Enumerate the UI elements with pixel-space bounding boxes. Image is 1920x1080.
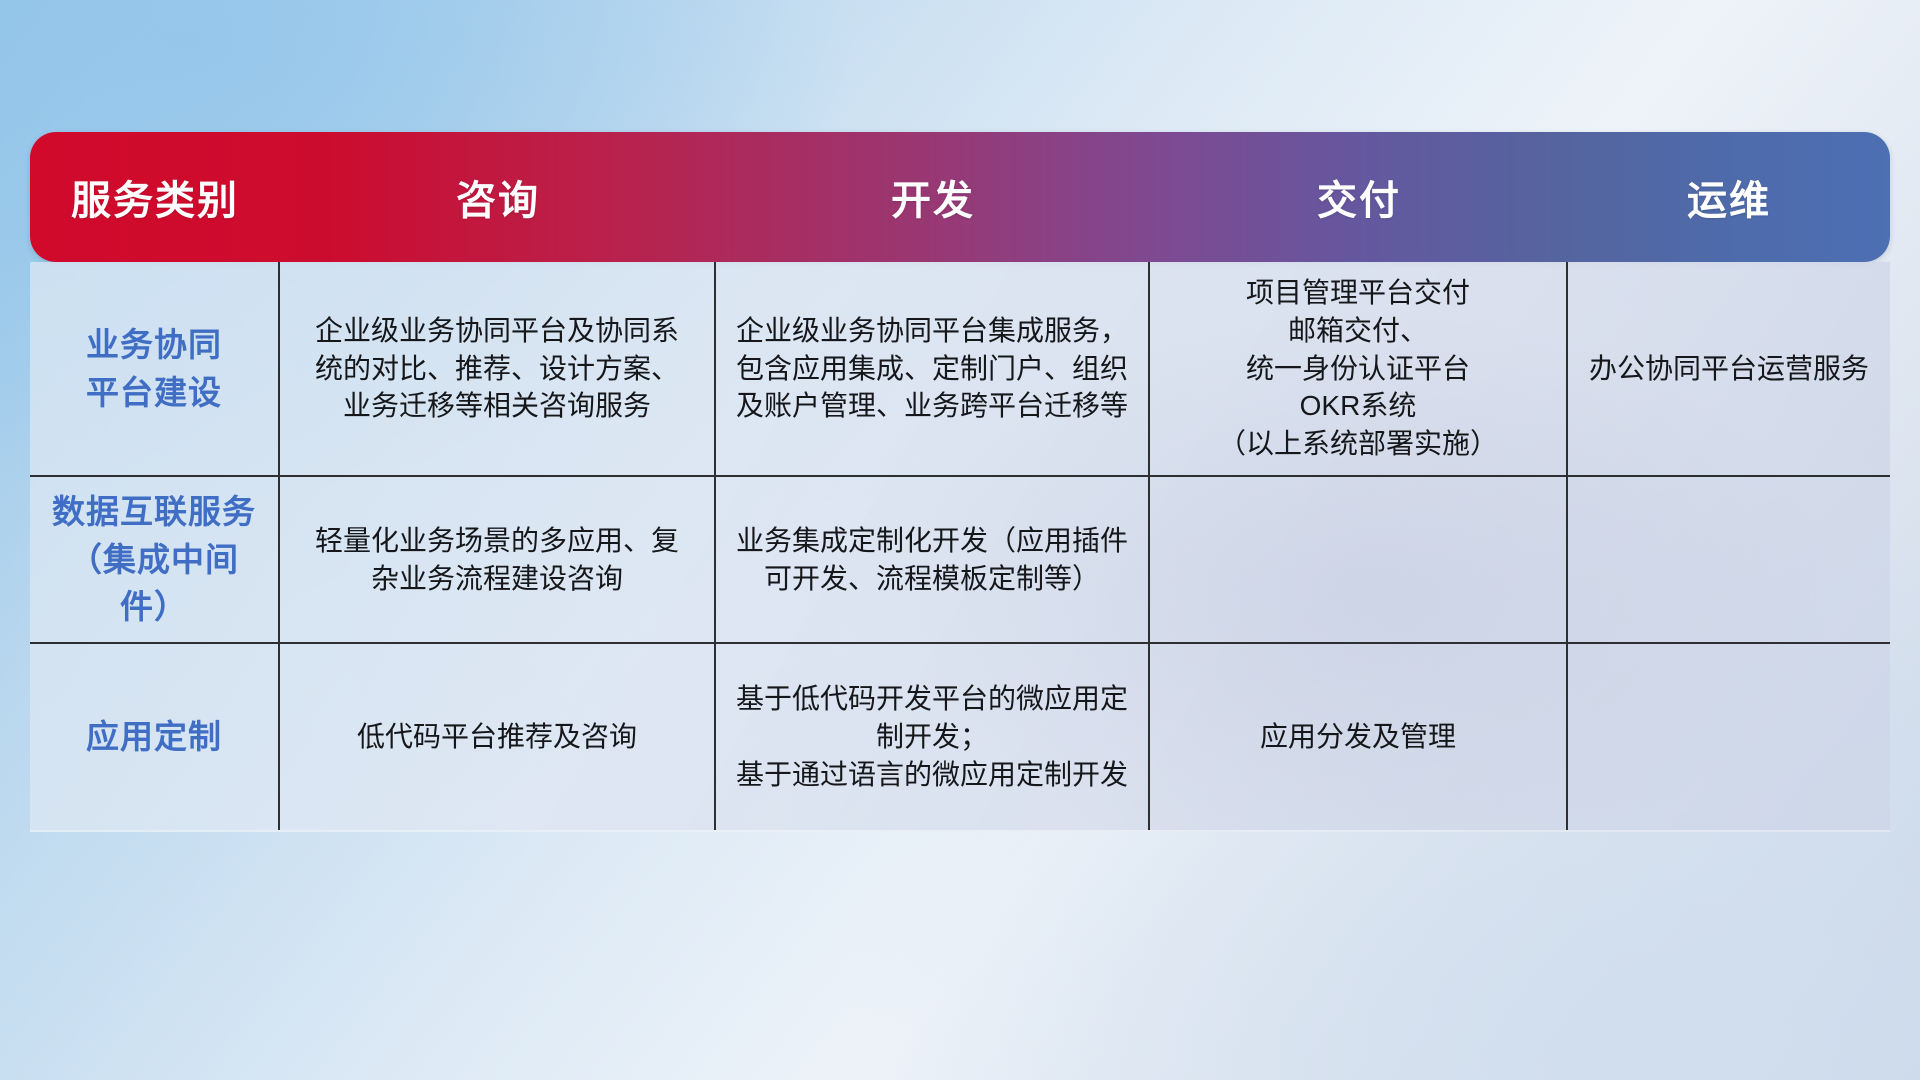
table-row: 应用定制 低代码平台推荐及咨询 基于低代码开发平台的微应用定 制开发； 基于通过… <box>30 644 1890 830</box>
cell-development: 企业级业务协同平台集成服务， 包含应用集成、定制门户、组织 及账户管理、业务跨平… <box>716 262 1150 475</box>
cell-operations: 办公协同平台运营服务 <box>1568 262 1890 475</box>
column-header-consulting: 咨询 <box>280 168 716 226</box>
cell-delivery <box>1150 477 1568 642</box>
cell-delivery: 项目管理平台交付 邮箱交付、 统一身份认证平台 OKR系统 （以上系统部署实施） <box>1150 262 1568 475</box>
column-header-category: 服务类别 <box>30 168 280 226</box>
column-header-development: 开发 <box>716 168 1150 226</box>
cell-delivery: 应用分发及管理 <box>1150 644 1568 830</box>
cell-consulting: 轻量化业务场景的多应用、复 杂业务流程建设咨询 <box>280 477 716 642</box>
slide-canvas: 服务类别 咨询 开发 交付 运维 业务协同 平台建设 企业级业务协同平台及协同系… <box>0 0 1920 1080</box>
cell-development: 基于低代码开发平台的微应用定 制开发； 基于通过语言的微应用定制开发 <box>716 644 1150 830</box>
table-body: 业务协同 平台建设 企业级业务协同平台及协同系 统的对比、推荐、设计方案、 业务… <box>30 262 1890 832</box>
cell-development: 业务集成定制化开发（应用插件 可开发、流程模板定制等） <box>716 477 1150 642</box>
cell-consulting: 低代码平台推荐及咨询 <box>280 644 716 830</box>
cell-consulting: 企业级业务协同平台及协同系 统的对比、推荐、设计方案、 业务迁移等相关咨询服务 <box>280 262 716 475</box>
column-header-delivery: 交付 <box>1150 168 1568 226</box>
service-matrix-table: 服务类别 咨询 开发 交付 运维 业务协同 平台建设 企业级业务协同平台及协同系… <box>30 132 1890 832</box>
cell-operations <box>1568 644 1890 830</box>
column-header-operations: 运维 <box>1568 168 1890 226</box>
table-row: 数据互联服务 （集成中间件） 轻量化业务场景的多应用、复 杂业务流程建设咨询 业… <box>30 477 1890 644</box>
table-header-row: 服务类别 咨询 开发 交付 运维 <box>30 132 1890 262</box>
cell-category: 应用定制 <box>30 644 280 830</box>
table-row: 业务协同 平台建设 企业级业务协同平台及协同系 统的对比、推荐、设计方案、 业务… <box>30 262 1890 477</box>
cell-category: 数据互联服务 （集成中间件） <box>30 477 280 642</box>
cell-operations <box>1568 477 1890 642</box>
cell-category: 业务协同 平台建设 <box>30 262 280 475</box>
